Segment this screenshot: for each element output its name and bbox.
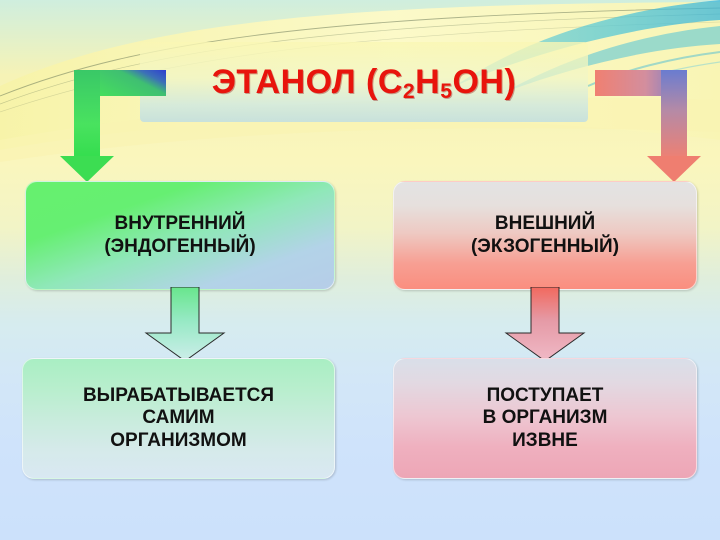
box-internal-endogenous[interactable]: ВНУТРЕННИЙ (ЭНДОГЕННЫЙ) bbox=[25, 181, 335, 290]
page-title: ЭТАНОЛ (C2H5OH) bbox=[212, 65, 517, 99]
title-banner: ЭТАНОЛ (C2H5OH) bbox=[140, 42, 588, 122]
elbow-arrow-right bbox=[595, 64, 705, 184]
slide-canvas: ЭТАНОЛ (C2H5OH) bbox=[0, 0, 720, 540]
box-produced-label: ВЫРАБАТЫВАЕТСЯ САМИМ ОРГАНИЗМОМ bbox=[77, 385, 280, 451]
down-arrow-left bbox=[140, 287, 230, 363]
box-external-exogenous[interactable]: ВНЕШНИЙ (ЭКЗОГЕННЫЙ) bbox=[393, 181, 697, 290]
down-arrow-right bbox=[500, 287, 590, 363]
box-produced-by-organism[interactable]: ВЫРАБАТЫВАЕТСЯ САМИМ ОРГАНИЗМОМ bbox=[22, 358, 335, 479]
box-external-label: ВНЕШНИЙ (ЭКЗОГЕННЫЙ) bbox=[465, 213, 625, 257]
box-enters-label: ПОСТУПАЕТ В ОРГАНИЗМ ИЗВНЕ bbox=[477, 385, 614, 451]
box-internal-label: ВНУТРЕННИЙ (ЭНДОГЕННЫЙ) bbox=[98, 213, 261, 257]
title-mid: H bbox=[415, 63, 440, 101]
title-subscript-2: 2 bbox=[403, 80, 415, 103]
title-subscript-5: 5 bbox=[440, 80, 452, 103]
title-suffix: OH) bbox=[452, 63, 516, 101]
title-prefix: ЭТАНОЛ (C bbox=[212, 63, 403, 101]
box-enters-from-outside[interactable]: ПОСТУПАЕТ В ОРГАНИЗМ ИЗВНЕ bbox=[393, 358, 697, 479]
